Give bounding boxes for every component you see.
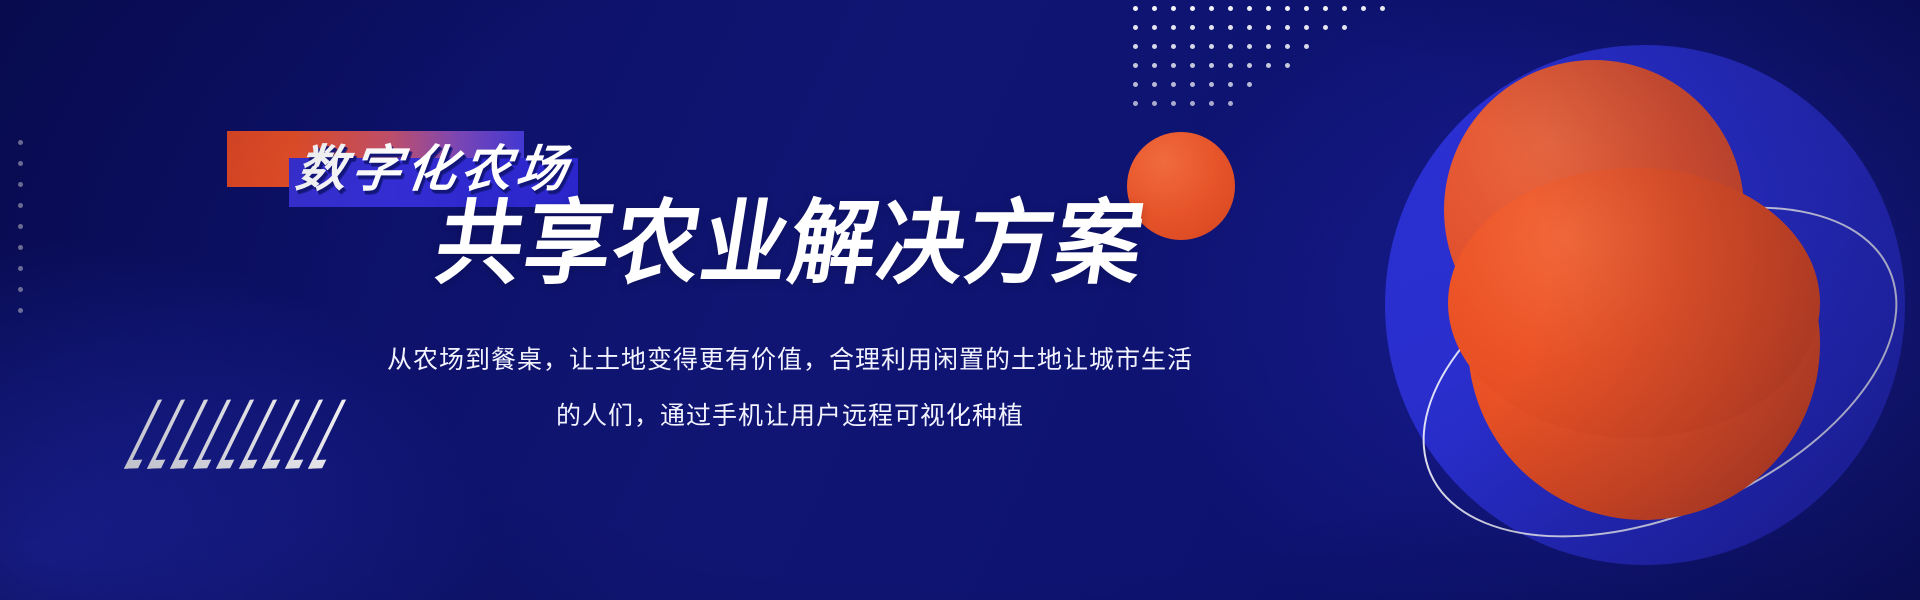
dot-grid-decoration [1133, 6, 1393, 114]
badge-label: 数字化农场 [293, 129, 577, 201]
dot-column-decoration [18, 140, 24, 320]
subtitle-text: 从农场到餐桌，让土地变得更有价值，合理利用闲置的土地让城市生活 的人们，通过手机… [355, 332, 1225, 444]
badge-tag: 数字化农场 [227, 115, 587, 205]
subtitle-line-2: 的人们，通过手机让用户远程可视化种植 [355, 388, 1225, 444]
subtitle-line-1: 从农场到餐桌，让土地变得更有价值，合理利用闲置的土地让城市生活 [355, 332, 1225, 388]
page-title: 共享农业解决方案 [429, 196, 1151, 293]
hero-banner: 数字化农场 共享农业解决方案 从农场到餐桌，让土地变得更有价值，合理利用闲置的土… [0, 0, 1920, 600]
chevron-arrows-icon [138, 410, 342, 458]
orbit-overlap-mask [1448, 168, 1820, 438]
